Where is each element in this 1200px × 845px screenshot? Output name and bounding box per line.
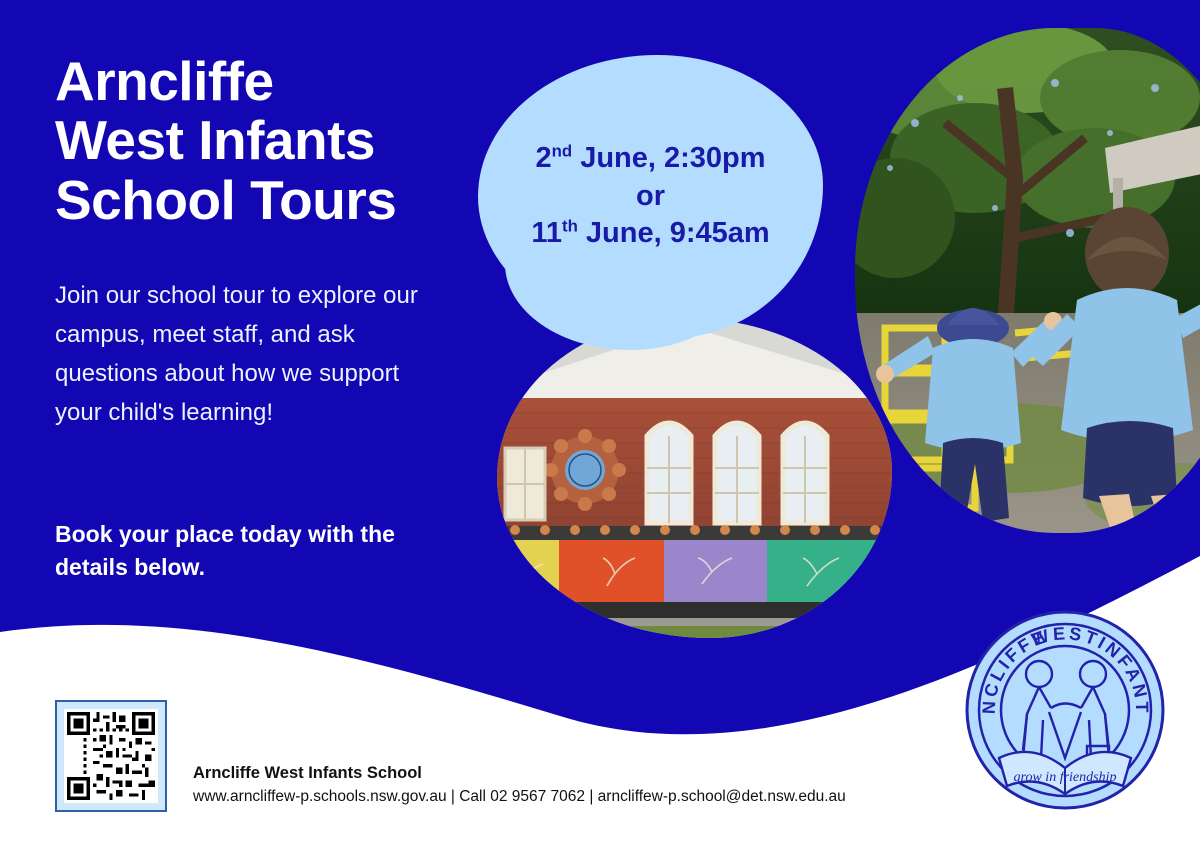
date-second-ordinal: th — [562, 217, 578, 236]
page-title: Arncliffe West Infants School Tours — [55, 52, 485, 230]
logo-motto: grow in friendship — [1014, 770, 1117, 785]
footer-contact-line: www.arncliffew-p.schools.nsw.gov.au | Ca… — [193, 787, 846, 808]
qr-code[interactable] — [55, 700, 167, 812]
poster-canvas: Arncliffe West Infants School Tours Join… — [0, 0, 1200, 845]
date-line-second: 11th June, 9:45am — [531, 215, 769, 253]
body-paragraph: Join our school tour to explore our camp… — [55, 277, 435, 433]
school-logo: WEST ARNCLIFFE INFANTS SCHOOL — [963, 608, 1168, 813]
date-line-first: 2nd June, 2:30pm — [535, 140, 765, 178]
date-conjunction: or — [636, 178, 665, 216]
footer-contact-block: Arncliffe West Infants School www.arncli… — [193, 762, 846, 808]
footer-school-name: Arncliffe West Infants School — [193, 762, 846, 784]
date-first-rest: June, 2:30pm — [572, 142, 765, 174]
date-second-number: 11 — [531, 217, 562, 249]
call-to-action-text: Book your place today with the details b… — [55, 518, 455, 583]
date-second-rest: June, 9:45am — [578, 217, 770, 249]
date-first-number: 2 — [535, 142, 551, 174]
date-first-ordinal: nd — [552, 141, 573, 160]
